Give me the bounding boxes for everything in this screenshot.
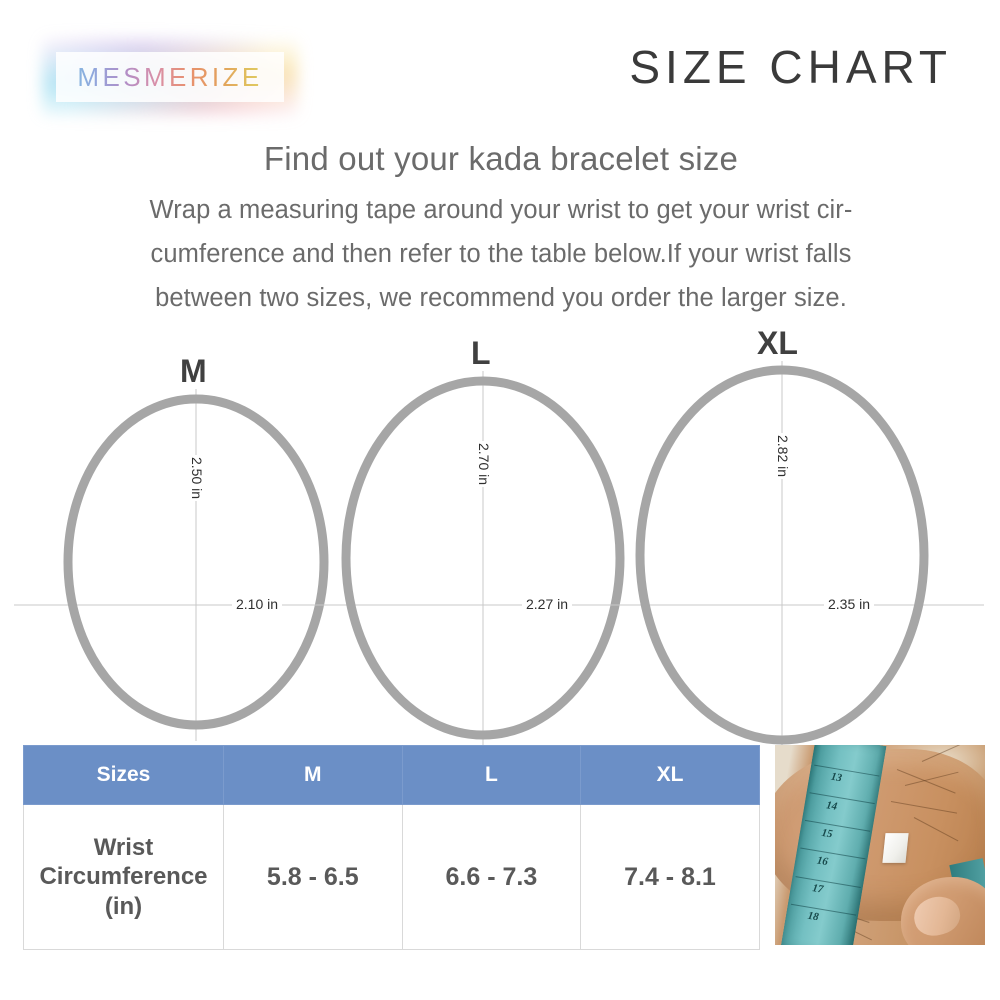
oval-shape-l (340, 375, 626, 735)
tape-number: 13 (830, 771, 843, 785)
cell-wrist-l: 6.6 - 7.3 (402, 805, 581, 950)
oval-shape-xl (634, 365, 930, 737)
brand-logo: MESMERIZE (56, 52, 284, 102)
oval-diagram-l: L 2.70 in 2.27 in (340, 375, 626, 735)
tape-number: 17 (811, 882, 824, 896)
row-label-line-2: Circumference (39, 863, 207, 890)
oval-diagram-m: M 2.50 in 2.10 in (62, 393, 330, 731)
oval-diagram-group: M 2.50 in 2.10 in L 2.70 in 2.27 in XL 2… (0, 345, 1000, 740)
table-header-l: L (402, 746, 581, 805)
tape-end-tab (883, 833, 909, 863)
page-title: SIZE CHART (629, 40, 952, 94)
oval-height-label-l: 2.70 in (476, 441, 492, 487)
wrist-measurement-photo: 13 14 15 16 17 18 (775, 745, 985, 945)
row-label-wrist-circumference: Wrist Circumference (in) (24, 805, 224, 950)
size-table: Sizes M L XL Wrist Circumference (in) 5.… (23, 745, 760, 950)
intro-line-1: Wrap a measuring tape around your wrist … (48, 189, 954, 233)
cell-wrist-xl: 7.4 - 8.1 (581, 805, 760, 950)
oval-shape-m (62, 393, 330, 731)
oval-height-label-m: 2.50 in (189, 455, 205, 501)
tape-number: 14 (825, 799, 838, 813)
size-chart-page: MESMERIZE SIZE CHART Find out your kada … (0, 0, 1000, 1000)
oval-width-label-m: 2.10 in (232, 596, 282, 612)
oval-diagram-xl: XL 2.82 in 2.35 in (634, 365, 930, 737)
intro-line-3: between two sizes, we recommend you orde… (48, 277, 954, 321)
tape-number: 15 (821, 827, 834, 841)
row-label-line-3: (in) (105, 893, 142, 920)
table-header-m: M (224, 746, 403, 805)
brand-name: MESMERIZE (56, 52, 284, 102)
table-row: Wrist Circumference (in) 5.8 - 6.5 6.6 -… (24, 805, 760, 950)
row-label-line-1: Wrist (94, 834, 154, 861)
oval-label-l: L (471, 337, 491, 369)
cell-wrist-m: 5.8 - 6.5 (224, 805, 403, 950)
tape-number: 16 (816, 854, 829, 868)
oval-width-label-l: 2.27 in (522, 596, 572, 612)
oval-height-label-xl: 2.82 in (775, 433, 791, 479)
intro-block: Find out your kada bracelet size Wrap a … (48, 138, 954, 321)
intro-line-2: cumference and then refer to the table b… (48, 233, 954, 277)
table-header-row: Sizes M L XL (24, 746, 760, 805)
oval-label-xl: XL (757, 327, 798, 359)
table-header-sizes: Sizes (24, 746, 224, 805)
oval-width-label-xl: 2.35 in (824, 596, 874, 612)
tape-number: 18 (807, 910, 820, 924)
intro-body: Wrap a measuring tape around your wrist … (48, 189, 954, 321)
table-header-xl: XL (581, 746, 760, 805)
oval-label-m: M (180, 355, 207, 387)
intro-heading: Find out your kada bracelet size (48, 138, 954, 179)
